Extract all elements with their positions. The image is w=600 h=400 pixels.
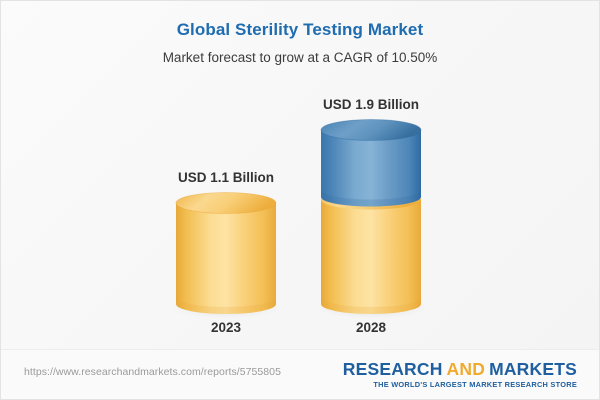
chart-footer: https://www.researchandmarkets.com/repor… [1,349,599,399]
bar-value-label-2023: USD 1.1 Billion [136,170,316,186]
bar-2023 [170,193,282,320]
chart-subtitle: Market forecast to grow at a CAGR of 10.… [1,49,599,66]
bar-value-label-2028: USD 1.9 Billion [281,97,461,113]
report-url-link[interactable]: https://www.researchandmarkets.com/repor… [24,366,281,378]
page-title: Global Sterility Testing Market [1,20,599,40]
research-and-markets-logo[interactable]: RESEARCHANDMARKETS THE WORLD'S LARGEST M… [343,360,577,389]
bar-2028 [315,120,427,320]
chart-card: Global Sterility Testing Market Market f… [0,0,600,400]
logo-wordmark: RESEARCHANDMARKETS [343,360,577,379]
logo-word-and: AND [447,359,486,379]
axis-label-2028: 2028 [281,320,461,336]
logo-tagline: THE WORLD'S LARGEST MARKET RESEARCH STOR… [343,380,577,389]
logo-word-research: RESEARCH [343,359,443,379]
logo-word-markets: MARKETS [489,359,577,379]
chart-header: Global Sterility Testing Market Market f… [1,1,599,66]
